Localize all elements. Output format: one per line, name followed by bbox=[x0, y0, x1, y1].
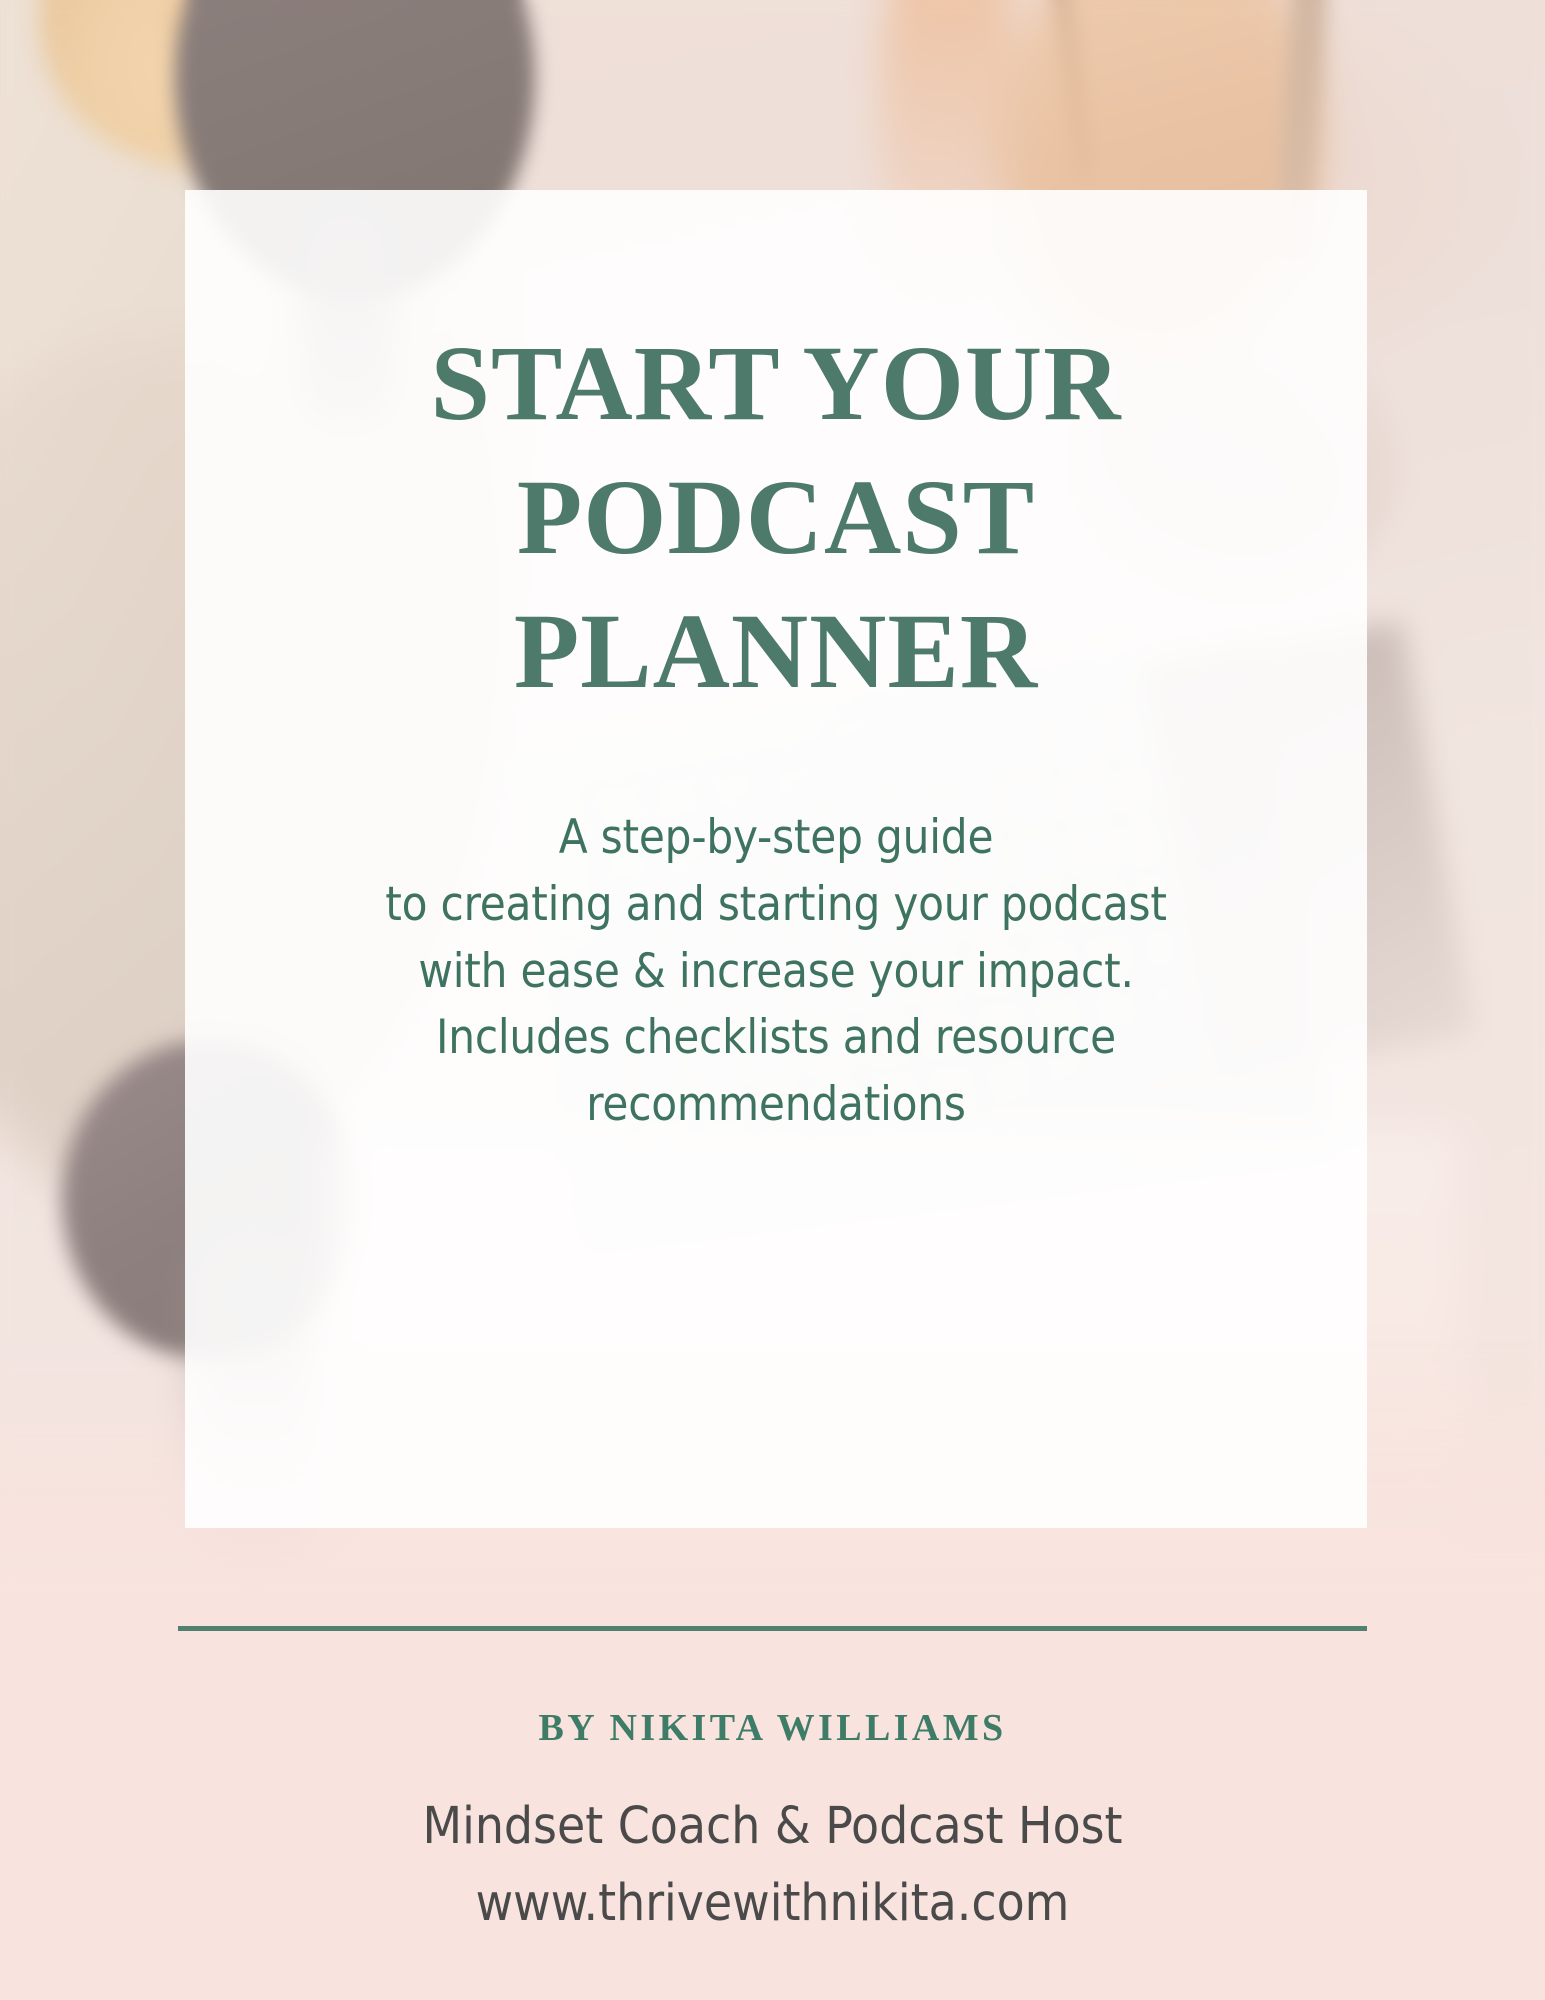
page-title-line-1: START YOUR bbox=[251, 318, 1301, 452]
author-role: Mindset Coach & Podcast Host bbox=[0, 1796, 1545, 1857]
cover-page: START YOUR PODCAST PLANNER A step-by-ste… bbox=[0, 0, 1545, 2000]
content-panel-inner: START YOUR PODCAST PLANNER A step-by-ste… bbox=[185, 190, 1367, 1528]
page-title: START YOUR PODCAST PLANNER bbox=[251, 318, 1301, 719]
page-title-line-2: PODCAST bbox=[251, 452, 1301, 586]
page-subtitle-line-1: A step-by-step guide bbox=[251, 805, 1301, 872]
page-subtitle-line-2: to creating and starting your podcast bbox=[251, 872, 1301, 939]
footer: BY NIKITA WILLIAMS Mindset Coach & Podca… bbox=[0, 1706, 1545, 1934]
page-subtitle-line-3: with ease & increase your impact. bbox=[251, 939, 1301, 1006]
page-subtitle-line-5: recommendations bbox=[251, 1072, 1301, 1139]
page-subtitle: A step-by-step guide to creating and sta… bbox=[251, 805, 1301, 1139]
content-panel: START YOUR PODCAST PLANNER A step-by-ste… bbox=[185, 190, 1367, 1528]
section-divider bbox=[178, 1626, 1367, 1631]
page-title-line-3: PLANNER bbox=[251, 586, 1301, 720]
page-subtitle-line-4: Includes checklists and resource bbox=[251, 1005, 1301, 1072]
author-byline: BY NIKITA WILLIAMS bbox=[0, 1706, 1545, 1752]
author-website-url[interactable]: www.thrivewithnikita.com bbox=[0, 1873, 1545, 1934]
